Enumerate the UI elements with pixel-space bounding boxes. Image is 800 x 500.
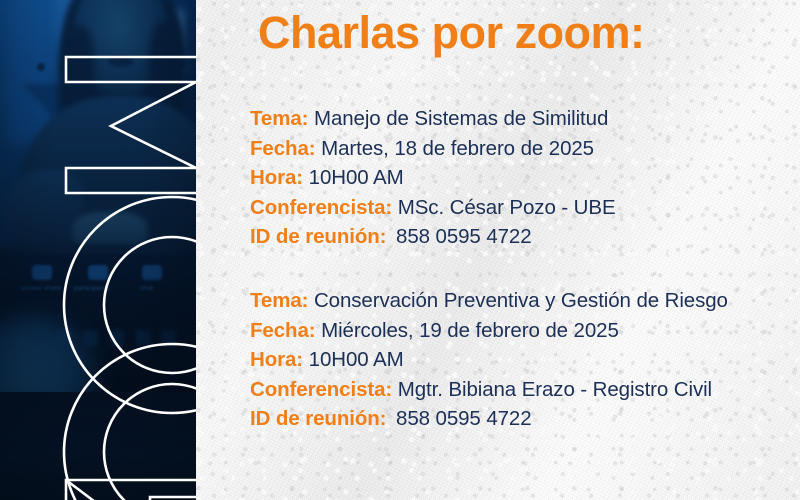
session-1-id-value: 858 0595 4722 — [392, 225, 532, 248]
session-2-fecha-value: Miércoles, 19 de febrero de 2025 — [321, 319, 619, 342]
tema-label: Tema: — [250, 107, 308, 130]
session-1-conferencista-row: Conferencista: MSc. César Pozo - UBE — [250, 193, 730, 223]
id-reunion-label: ID de reunión: — [250, 225, 386, 248]
session-block-2: Tema: Conservación Preventiva y Gestión … — [250, 286, 730, 434]
session-1-fecha-value: Martes, 18 de febrero de 2025 — [321, 137, 594, 160]
session-2-id-value: 858 0595 4722 — [392, 407, 532, 430]
session-1-fecha-row: Fecha: Martes, 18 de febrero de 2025 — [250, 134, 730, 164]
session-1-hora-value: 10H00 AM — [309, 166, 404, 189]
tema-label: Tema: — [250, 289, 308, 312]
conferencista-label: Conferencista: — [250, 378, 392, 401]
page-title: Charlas por zoom: — [258, 8, 645, 58]
session-1-tema-row: Tema: Manejo de Sistemas de Similitud — [250, 104, 730, 134]
session-1-conferencista-value: MSc. César Pozo - UBE — [398, 196, 616, 219]
photo-panel: screen share participants chat — [0, 0, 196, 500]
content-column: Charlas por zoom: Tema: Manejo de Sistem… — [250, 0, 795, 500]
session-2-conferencista-value: Mgtr. Bibiana Erazo - Registro Civil — [398, 378, 712, 401]
session-2-hora-value: 10H00 AM — [309, 348, 404, 371]
hora-label: Hora: — [250, 166, 303, 189]
session-block-1: Tema: Manejo de Sistemas de Similitud Fe… — [250, 104, 730, 252]
session-2-tema-value: Conservación Preventiva y Gestión de Rie… — [314, 289, 728, 312]
zoom-talks-poster: screen share participants chat — [0, 0, 800, 500]
session-1-hora-row: Hora: 10H00 AM — [250, 163, 730, 193]
session-1-id-row: ID de reunión: 858 0595 4722 — [250, 222, 730, 252]
session-2-tema-row: Tema: Conservación Preventiva y Gestión … — [250, 286, 730, 316]
session-2-hora-row: Hora: 10H00 AM — [250, 345, 730, 375]
hora-label: Hora: — [250, 348, 303, 371]
fecha-label: Fecha: — [250, 319, 315, 342]
conferencista-label: Conferencista: — [250, 196, 392, 219]
photo-vignette — [0, 0, 196, 500]
fecha-label: Fecha: — [250, 137, 315, 160]
id-reunion-label: ID de reunión: — [250, 407, 386, 430]
session-2-fecha-row: Fecha: Miércoles, 19 de febrero de 2025 — [250, 316, 730, 346]
session-2-conferencista-row: Conferencista: Mgtr. Bibiana Erazo - Reg… — [250, 375, 730, 405]
session-2-id-row: ID de reunión: 858 0595 4722 — [250, 404, 730, 434]
session-1-tema-value: Manejo de Sistemas de Similitud — [314, 107, 608, 130]
